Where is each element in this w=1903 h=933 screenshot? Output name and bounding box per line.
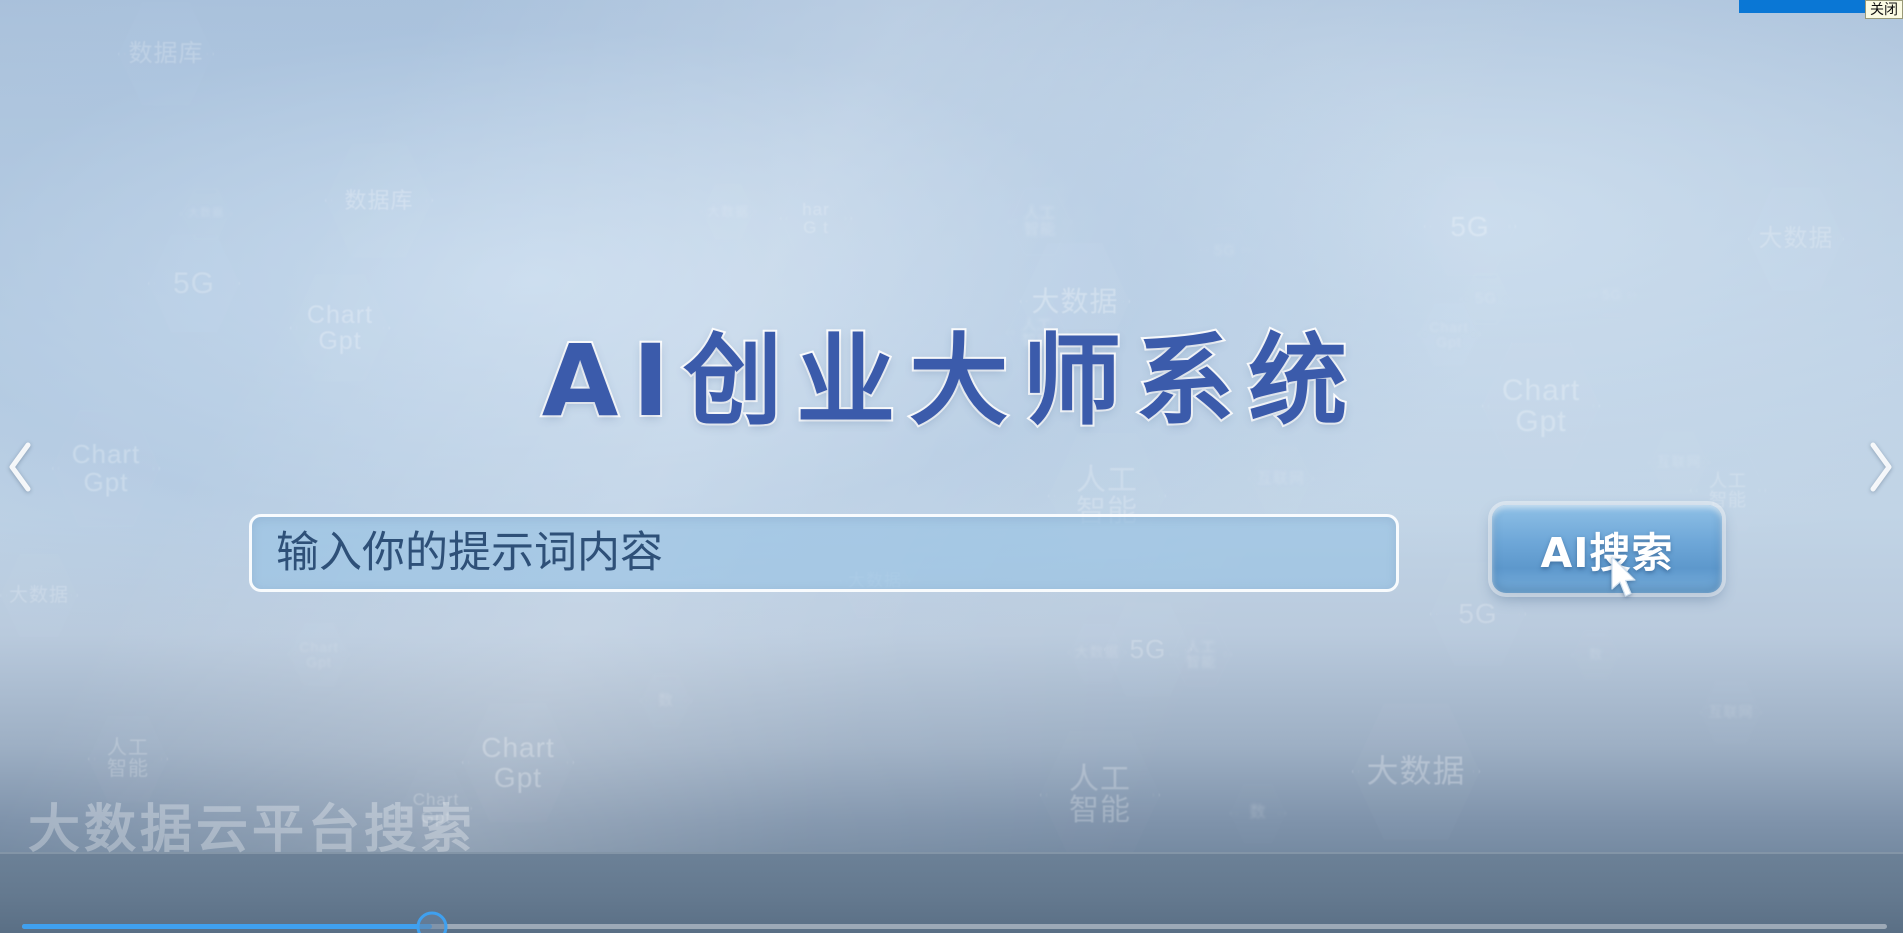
close-tooltip: 关闭 [1865,0,1903,19]
hero-section: AI创业大师系统 AI搜索 [0,0,1903,933]
progress-fill [22,924,432,929]
window-titlebar [1739,0,1867,13]
carousel-prev-arrow[interactable] [0,424,46,510]
chevron-right-icon [1866,440,1896,494]
carousel-next-arrow[interactable] [1855,424,1903,510]
app-stage: 数据库大数据5GChart GptChart Gpt大数据人工 智能Chart … [0,0,1903,933]
ai-search-button[interactable]: AI搜索 [1492,505,1722,593]
search-row: AI搜索 [249,511,1709,595]
page-title: AI创业大师系统 [542,332,1361,431]
search-input[interactable] [249,514,1399,592]
progress-slider[interactable] [22,920,1887,933]
chevron-left-icon [5,440,35,494]
